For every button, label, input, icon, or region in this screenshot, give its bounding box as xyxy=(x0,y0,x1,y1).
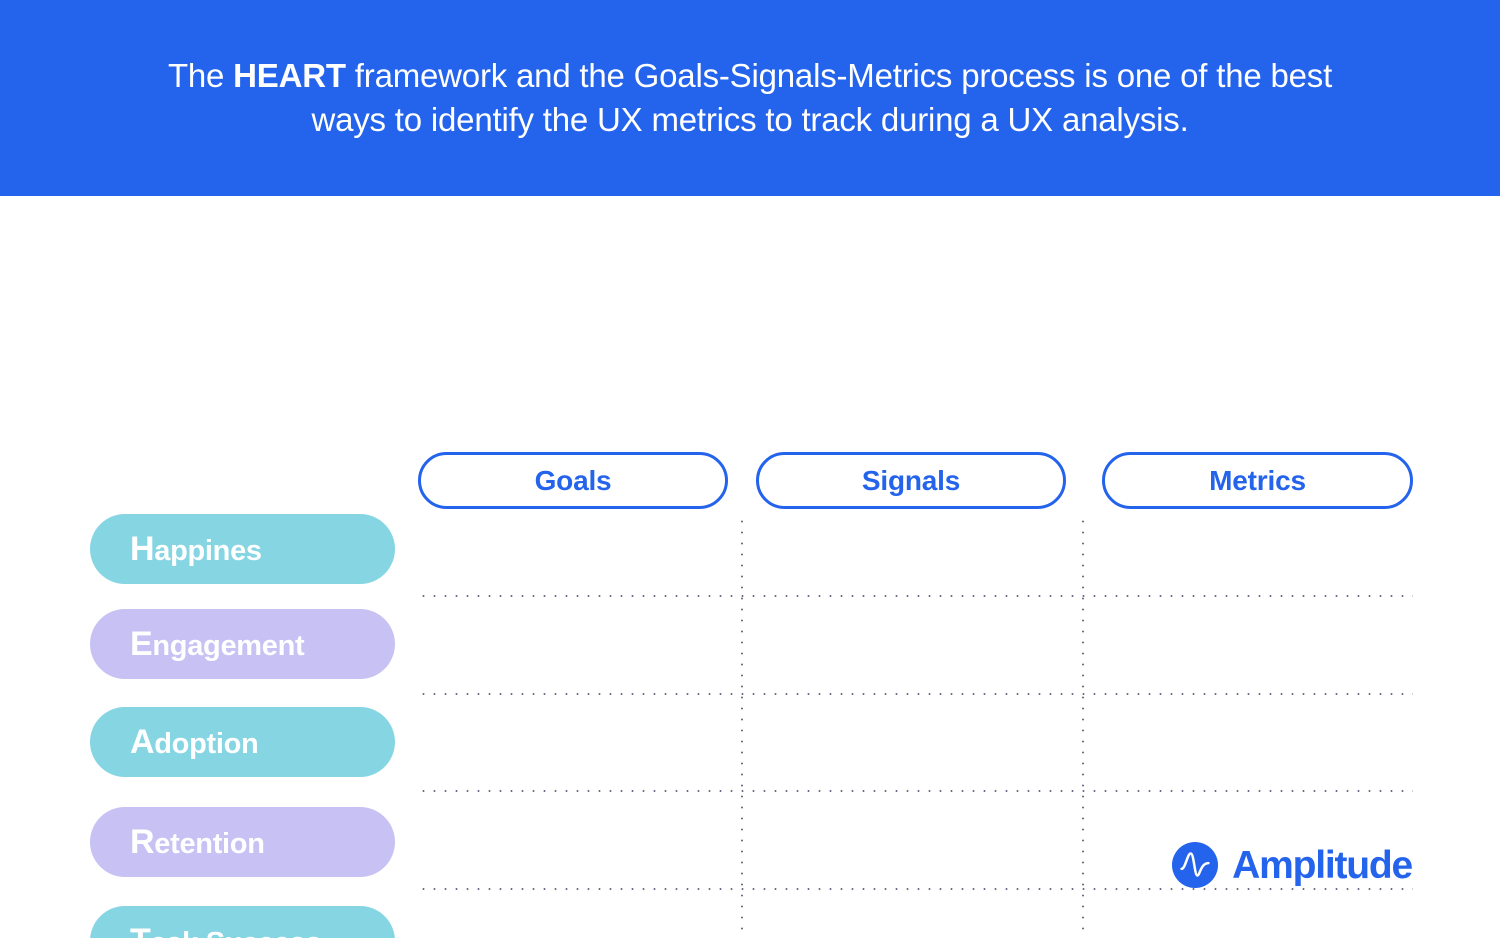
column-header-goals[interactable]: Goals xyxy=(418,452,728,509)
row-initial-t: T xyxy=(130,922,150,938)
infographic-canvas: The HEART framework and the Goals-Signal… xyxy=(0,0,1500,938)
row-label-happines-text: Happines xyxy=(130,530,262,569)
row-initial-e: E xyxy=(130,625,152,663)
row-initial-a: A xyxy=(130,723,154,761)
row-rest-task-success: ask Success xyxy=(150,927,321,938)
grid-hline-1 xyxy=(418,595,1413,597)
row-label-retention[interactable]: Retention xyxy=(90,807,395,877)
grid-hline-2 xyxy=(418,693,1413,695)
row-label-task-success[interactable]: Task Success xyxy=(90,906,395,938)
column-header-metrics[interactable]: Metrics xyxy=(1102,452,1413,509)
row-rest-adoption: doption xyxy=(154,728,258,760)
header-banner: The HEART framework and the Goals-Signal… xyxy=(0,0,1500,196)
row-label-engagement-text: Engagement xyxy=(130,625,304,664)
grid-vline-1 xyxy=(741,516,743,938)
grid-vline-2 xyxy=(1082,516,1084,938)
column-header-signals-label: Signals xyxy=(862,465,960,497)
row-label-task-success-text: Task Success xyxy=(130,922,321,938)
column-header-metrics-label: Metrics xyxy=(1209,465,1306,497)
row-initial-r: R xyxy=(130,823,154,861)
row-rest-retention: etention xyxy=(154,828,264,860)
row-label-adoption[interactable]: Adoption xyxy=(90,707,395,777)
grid-hline-4 xyxy=(418,888,1413,890)
row-label-retention-text: Retention xyxy=(130,823,265,862)
row-label-happines[interactable]: Happines xyxy=(90,514,395,584)
row-label-adoption-text: Adoption xyxy=(130,723,258,762)
banner-headline: The HEART framework and the Goals-Signal… xyxy=(100,54,1400,142)
banner-emphasis-heart: HEART xyxy=(233,57,346,94)
row-initial-h: H xyxy=(130,530,154,568)
row-rest-engagement: ngagement xyxy=(152,630,304,662)
brand-logo: Amplitude xyxy=(1172,842,1412,888)
row-label-engagement[interactable]: Engagement xyxy=(90,609,395,679)
column-header-goals-label: Goals xyxy=(535,465,612,497)
row-rest-happines: appines xyxy=(154,535,262,567)
brand-wordmark: Amplitude xyxy=(1232,846,1412,885)
amplitude-logo-icon xyxy=(1172,842,1218,888)
heart-matrix: Goals Signals Metrics Happines Engagemen… xyxy=(0,196,1500,938)
banner-text-after: framework and the Goals-Signals-Metrics … xyxy=(311,57,1332,138)
column-header-signals[interactable]: Signals xyxy=(756,452,1066,509)
banner-text-before: The xyxy=(168,57,233,94)
grid-hline-3 xyxy=(418,790,1413,792)
